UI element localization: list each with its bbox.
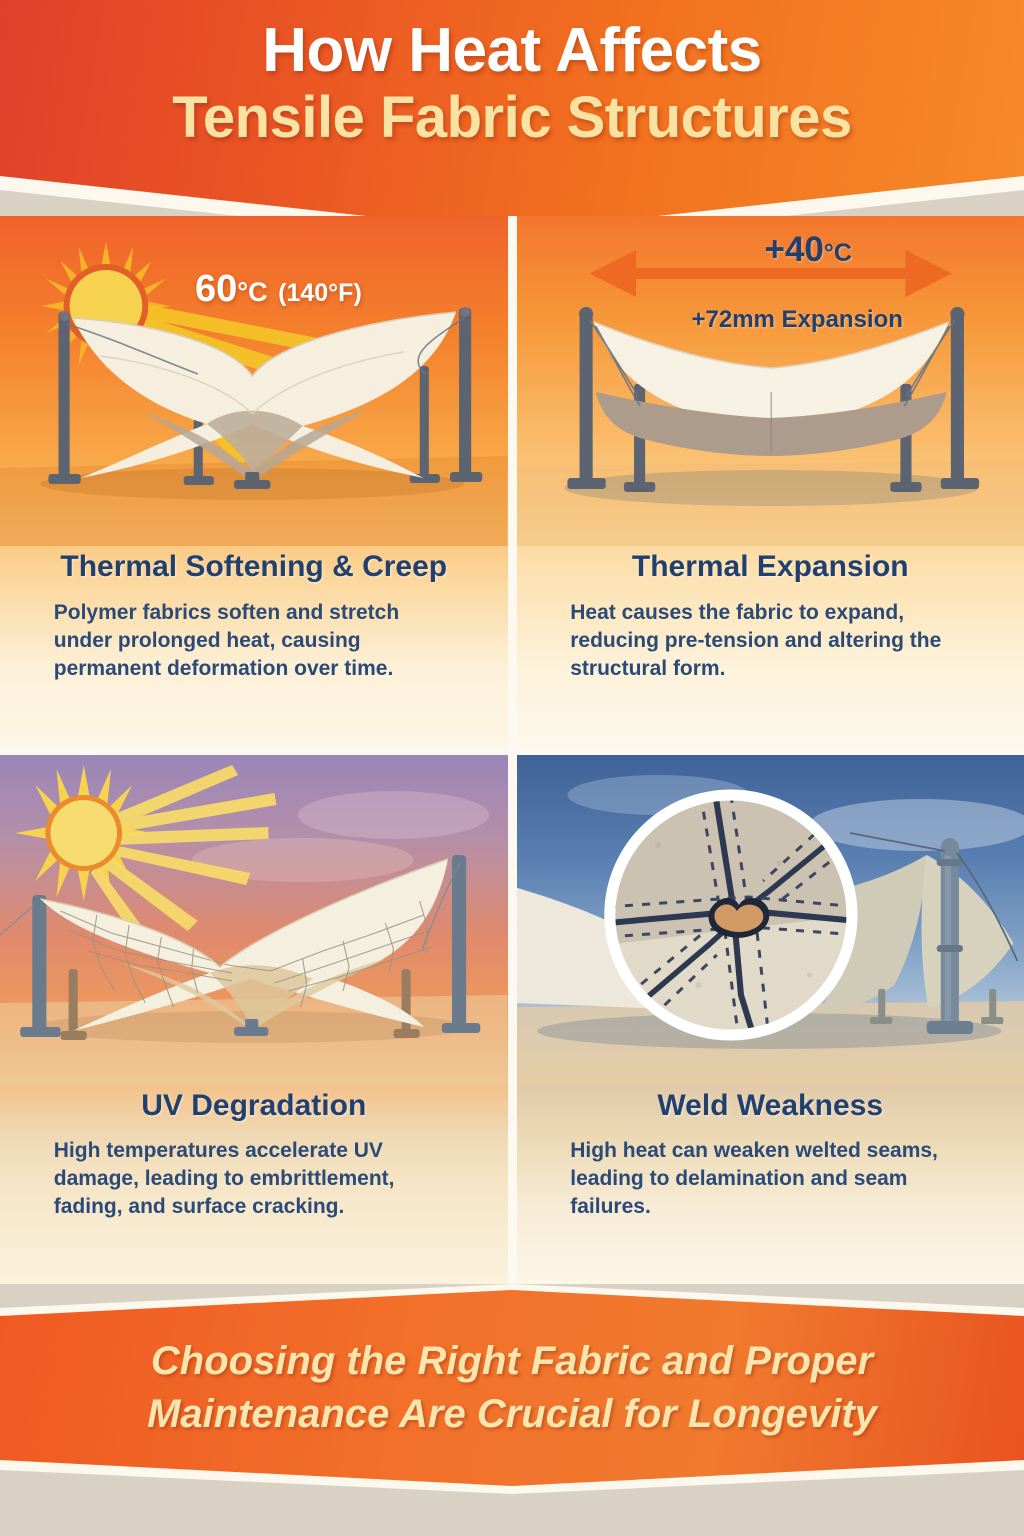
temp-fahrenheit: (140°F) [278,279,362,307]
panel-3-body: High temperatures accelerate UV damage, … [54,1137,454,1221]
panel-3-caption: UV Degradation High temperatures acceler… [0,1085,508,1222]
panel-weld-weakness[interactable]: Weld Weakness High heat can weaken welte… [517,755,1024,1285]
panel-1-caption: Thermal Softening & Creep Polymer fabric… [0,546,508,683]
temperature-label: 60°C (140°F) [195,268,362,311]
panel-2-caption: Thermal Expansion Heat causes the fabric… [517,546,1024,683]
infographic-poster: How Heat Affects Tensile Fabric Structur… [0,0,1024,1536]
magnifier-icon [605,791,857,1041]
panel-4-caption: Weld Weakness High heat can weaken welte… [517,1085,1024,1222]
delta-value: +40 [765,230,824,269]
temp-value: 60 [195,268,237,310]
panel-uv-degradation[interactable]: UV Degradation High temperatures acceler… [0,755,508,1285]
panel-1-body: Polymer fabrics soften and stretch under… [54,599,454,683]
delta-unit: °C [824,239,852,267]
footer-line2: Maintenance Are Crucial for Longevity [147,1388,877,1441]
fabric-sail [593,322,948,456]
delta-temperature-label: +40°C [765,230,852,270]
panel-1-illustration [0,216,508,546]
page-title-line1: How Heat Affects [262,18,762,83]
panel-1-title: Thermal Softening & Creep [28,550,480,585]
panel-thermal-softening[interactable]: 60°C (140°F) Thermal Softening & Creep P… [0,216,508,746]
panel-4-body: High heat can weaken welted seams, leadi… [570,1137,970,1221]
header-content: How Heat Affects Tensile Fabric Structur… [0,0,1024,232]
footer-content: Choosing the Right Fabric and Proper Mai… [0,1290,1024,1486]
panel-4-illustration [517,755,1024,1085]
expansion-label: +72mm Expansion [692,306,903,334]
temp-unit: °C [237,277,267,307]
panel-3-illustration [0,755,508,1085]
panel-4-title: Weld Weakness [545,1089,997,1124]
footer-line1: Choosing the Right Fabric and Proper [151,1335,873,1388]
panel-grid: 60°C (140°F) Thermal Softening & Creep P… [0,216,1024,1284]
panel-thermal-expansion[interactable]: +40°C +72mm Expansion Thermal Expansion … [517,216,1024,746]
page-title-line2: Tensile Fabric Structures [172,87,851,150]
panel-2-body: Heat causes the fabric to expand, reduci… [570,599,970,683]
panel-2-title: Thermal Expansion [545,550,997,585]
panel-3-title: UV Degradation [28,1089,480,1124]
